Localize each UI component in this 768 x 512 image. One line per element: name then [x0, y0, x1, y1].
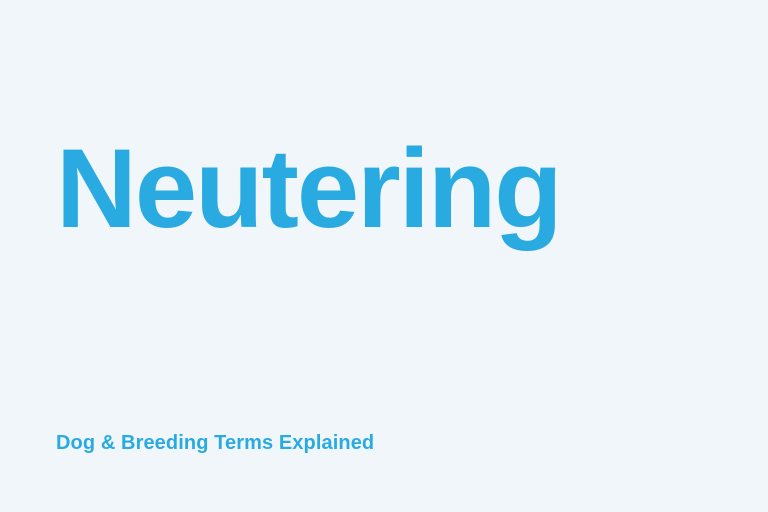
- page-title: Neutering: [56, 130, 716, 248]
- page-subtitle: Dog & Breeding Terms Explained: [56, 430, 716, 456]
- subtitle-block: Dog & Breeding Terms Explained: [56, 430, 716, 456]
- title-slide: Neutering Dog & Breeding Terms Explained: [0, 0, 768, 512]
- title-block: Neutering: [56, 130, 716, 248]
